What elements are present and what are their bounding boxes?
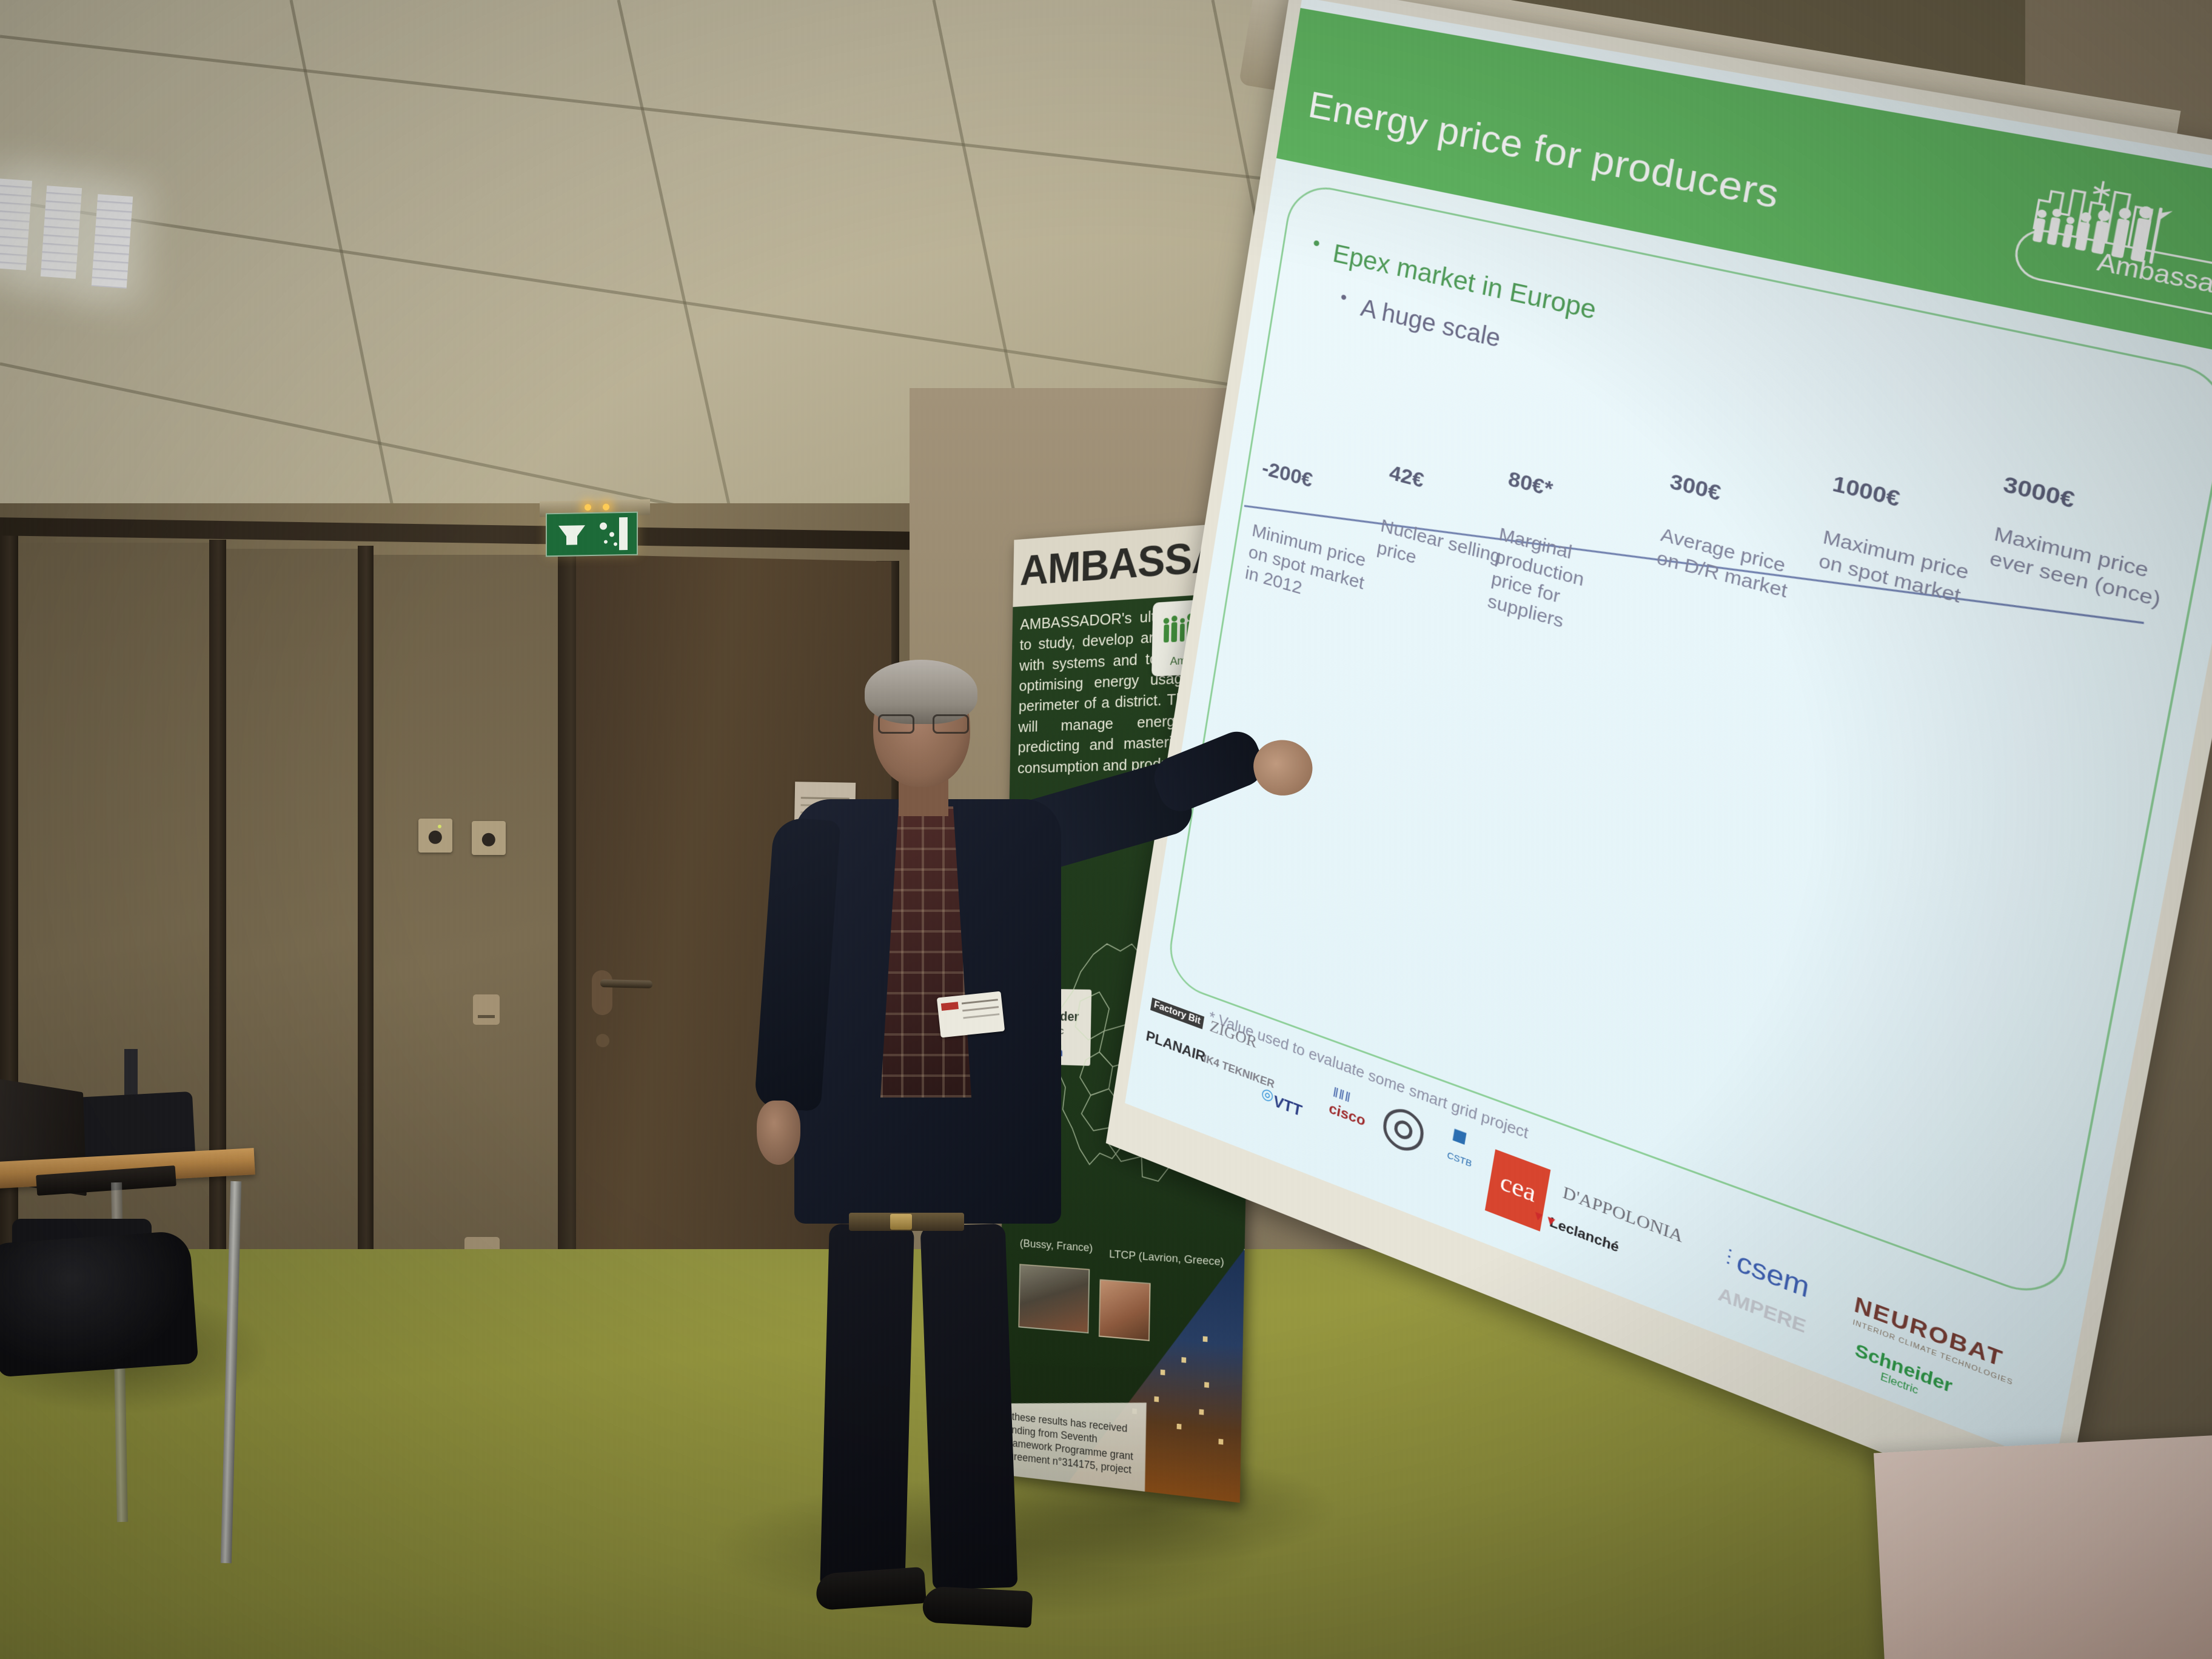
bag-under-table xyxy=(0,1230,198,1377)
presenter-name-badge xyxy=(937,991,1005,1038)
door-escutcheon xyxy=(592,970,612,1016)
presenter xyxy=(697,655,1304,1601)
presenter-left-shoe xyxy=(815,1567,927,1610)
price-value: 1000€ xyxy=(1831,471,1902,512)
csem-dots-icon: ⋮ xyxy=(1718,1244,1740,1269)
cisco-logo: cisco xyxy=(1328,1101,1367,1129)
price-value: -200€ xyxy=(1261,457,1315,493)
price-value: 42€ xyxy=(1387,461,1426,493)
price-description: Minimum price on spot market in 2012 xyxy=(1244,520,1376,618)
leclanche-logo: Leclanché xyxy=(1549,1215,1620,1255)
price-value: 300€ xyxy=(1668,469,1723,506)
price-description: Maximum price on spot market xyxy=(1817,526,1975,611)
wall-mullion xyxy=(209,540,226,1358)
exit-fixture-bulb xyxy=(585,504,591,511)
ceiling-light-panel xyxy=(41,186,82,279)
switch-press-dot xyxy=(482,833,495,846)
presenter-left-hand xyxy=(757,1101,800,1165)
emergency-exit-sign xyxy=(546,512,638,557)
cstb-logo: CSTB xyxy=(1446,1150,1472,1168)
price-description: Average price on D/R market xyxy=(1655,523,1805,606)
university-seal-logo: ◎ xyxy=(1377,1092,1431,1160)
presenter-right-shoe xyxy=(922,1586,1033,1627)
presenter-left-leg xyxy=(820,1224,914,1589)
price-description: Marginal production price for suppliers xyxy=(1486,523,1635,649)
presenter-legs xyxy=(825,1225,1025,1601)
presenter-right-forearm xyxy=(1148,725,1270,818)
presenter-right-leg xyxy=(920,1224,1018,1590)
wall-outlet xyxy=(473,994,500,1025)
light-switch-button[interactable] xyxy=(418,819,452,853)
ambassador-logo: ✹ xyxy=(2006,149,2212,335)
exit-fixture-bulb xyxy=(603,504,609,511)
presenter-belt xyxy=(849,1213,964,1231)
door-handle[interactable] xyxy=(600,979,652,988)
outlet-slot xyxy=(478,1015,495,1018)
exit-down-arrow-icon xyxy=(558,525,585,544)
price-description: Maximum price ever seen (once) xyxy=(1988,522,2171,614)
ceiling-light-panel xyxy=(92,194,133,289)
price-value: 80€* xyxy=(1506,467,1554,502)
cloth-covered-table xyxy=(1874,1433,2212,1659)
cstb-mark-icon: ■ xyxy=(1450,1121,1469,1150)
wall-mullion xyxy=(358,546,374,1361)
wall-panel xyxy=(226,549,358,1355)
exit-running-person-icon xyxy=(594,516,629,552)
switch-led-indicator xyxy=(438,825,441,828)
presenter-glasses xyxy=(878,714,969,735)
switch-press-dot xyxy=(429,831,442,844)
light-switch-button[interactable] xyxy=(472,821,506,855)
door-lock xyxy=(596,1034,609,1047)
price-tick: 1000€ Maximum price on spot market xyxy=(1835,471,2015,514)
conference-room-photo: AMBASSADOR AMBASSADOR's ultimate goal is… xyxy=(0,0,2212,1659)
price-tick: 80€* Marginal production price for suppl… xyxy=(1510,467,1671,507)
price-tick: 300€ Average price on D/R market xyxy=(1672,469,1843,511)
